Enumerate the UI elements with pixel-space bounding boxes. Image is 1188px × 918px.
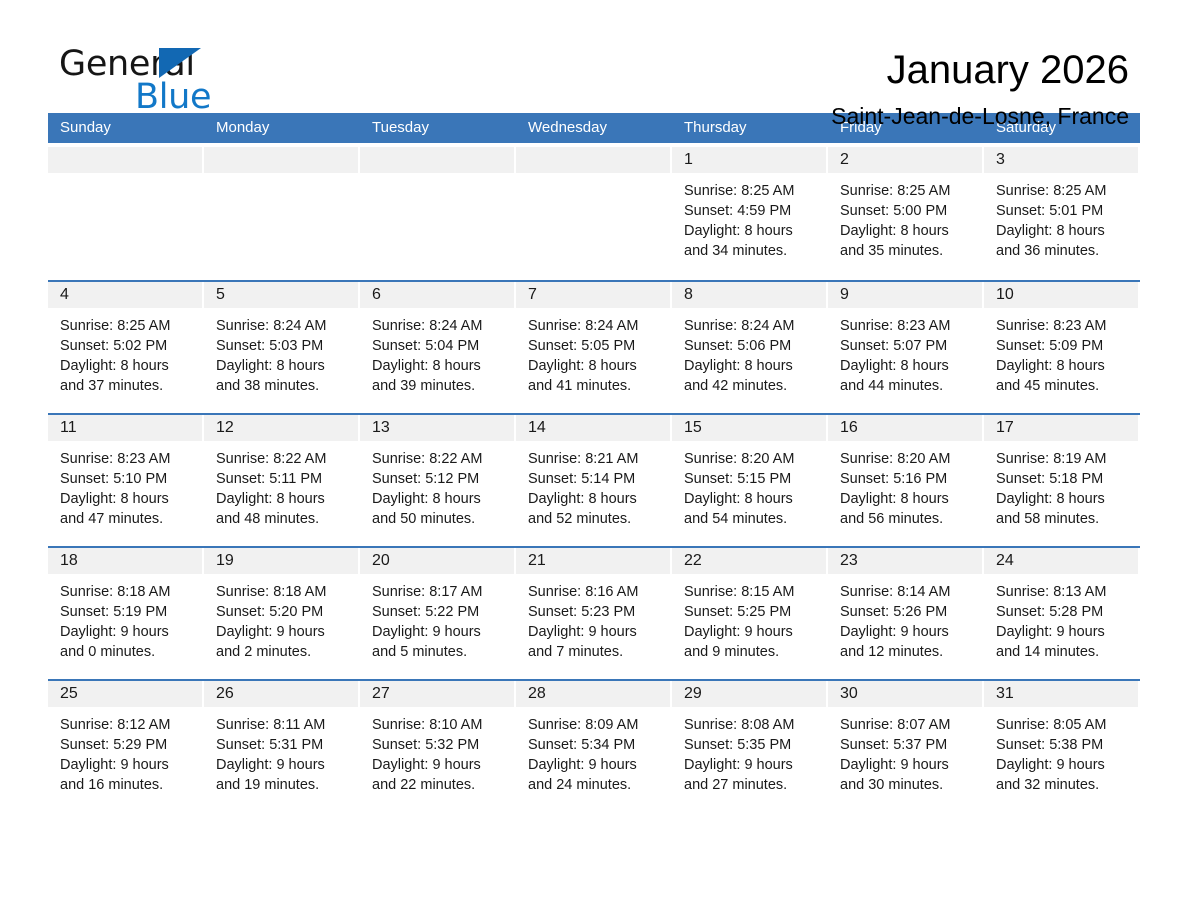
sunset-text: Sunset: 5:15 PM: [684, 469, 820, 489]
sunrise-text: Sunrise: 8:07 AM: [840, 715, 976, 735]
day-number-band: 12: [204, 415, 358, 441]
sunset-text: Sunset: 5:29 PM: [60, 735, 196, 755]
sunrise-text: Sunrise: 8:23 AM: [840, 316, 976, 336]
day-number-band: [48, 147, 202, 173]
day-cell-empty: [360, 147, 516, 280]
day-cell[interactable]: 18Sunrise: 8:18 AMSunset: 5:19 PMDayligh…: [48, 548, 204, 679]
sunset-text: Sunset: 5:00 PM: [840, 201, 976, 221]
daylight-text-line1: Daylight: 9 hours: [996, 622, 1132, 642]
daylight-text-line2: and 0 minutes.: [60, 642, 196, 662]
daylight-text-line1: Daylight: 8 hours: [216, 489, 352, 509]
daylight-text-line1: Daylight: 8 hours: [840, 356, 976, 376]
day-cell[interactable]: 10Sunrise: 8:23 AMSunset: 5:09 PMDayligh…: [984, 282, 1140, 413]
sunrise-text: Sunrise: 8:19 AM: [996, 449, 1132, 469]
day-details: Sunrise: 8:23 AMSunset: 5:09 PMDaylight:…: [984, 308, 1138, 396]
daylight-text-line2: and 36 minutes.: [996, 241, 1132, 261]
daylight-text-line2: and 41 minutes.: [528, 376, 664, 396]
day-number: 12: [216, 419, 234, 436]
sunset-text: Sunset: 5:38 PM: [996, 735, 1132, 755]
calendar-grid: Sunday Monday Tuesday Wednesday Thursday…: [48, 113, 1140, 812]
day-number-band: 5: [204, 282, 358, 308]
day-details: Sunrise: 8:25 AMSunset: 5:01 PMDaylight:…: [984, 173, 1138, 261]
day-number: 13: [372, 419, 390, 436]
daylight-text-line1: Daylight: 9 hours: [840, 755, 976, 775]
daylight-text-line2: and 50 minutes.: [372, 509, 508, 529]
day-cell[interactable]: 25Sunrise: 8:12 AMSunset: 5:29 PMDayligh…: [48, 681, 204, 812]
day-cell[interactable]: 26Sunrise: 8:11 AMSunset: 5:31 PMDayligh…: [204, 681, 360, 812]
day-number: 29: [684, 685, 702, 702]
daylight-text-line1: Daylight: 9 hours: [372, 755, 508, 775]
day-number: 20: [372, 552, 390, 569]
day-cell-inner: 8Sunrise: 8:24 AMSunset: 5:06 PMDaylight…: [672, 282, 826, 413]
day-details: Sunrise: 8:18 AMSunset: 5:19 PMDaylight:…: [48, 574, 202, 662]
day-number: 6: [372, 286, 381, 303]
daylight-text-line2: and 45 minutes.: [996, 376, 1132, 396]
day-cell[interactable]: 14Sunrise: 8:21 AMSunset: 5:14 PMDayligh…: [516, 415, 672, 546]
sunrise-text: Sunrise: 8:23 AM: [60, 449, 196, 469]
daylight-text-line2: and 58 minutes.: [996, 509, 1132, 529]
daylight-text-line2: and 14 minutes.: [996, 642, 1132, 662]
day-details: Sunrise: 8:16 AMSunset: 5:23 PMDaylight:…: [516, 574, 670, 662]
sunrise-text: Sunrise: 8:24 AM: [684, 316, 820, 336]
sunrise-text: Sunrise: 8:17 AM: [372, 582, 508, 602]
day-cell-inner: 3Sunrise: 8:25 AMSunset: 5:01 PMDaylight…: [984, 147, 1138, 280]
day-number: 4: [60, 286, 69, 303]
sunrise-text: Sunrise: 8:24 AM: [372, 316, 508, 336]
sunrise-text: Sunrise: 8:20 AM: [684, 449, 820, 469]
day-details: Sunrise: 8:15 AMSunset: 5:25 PMDaylight:…: [672, 574, 826, 662]
day-cell[interactable]: 19Sunrise: 8:18 AMSunset: 5:20 PMDayligh…: [204, 548, 360, 679]
day-details: Sunrise: 8:24 AMSunset: 5:06 PMDaylight:…: [672, 308, 826, 396]
day-number: 9: [840, 286, 849, 303]
day-details: Sunrise: 8:24 AMSunset: 5:05 PMDaylight:…: [516, 308, 670, 396]
daylight-text-line2: and 54 minutes.: [684, 509, 820, 529]
sunset-text: Sunset: 5:06 PM: [684, 336, 820, 356]
daylight-text-line1: Daylight: 8 hours: [996, 356, 1132, 376]
day-cell-inner: 15Sunrise: 8:20 AMSunset: 5:15 PMDayligh…: [672, 415, 826, 546]
day-number-band: 2: [828, 147, 982, 173]
day-cell-inner: 29Sunrise: 8:08 AMSunset: 5:35 PMDayligh…: [672, 681, 826, 812]
sunrise-text: Sunrise: 8:10 AM: [372, 715, 508, 735]
day-number-band: 10: [984, 282, 1138, 308]
day-cell-inner: [516, 147, 670, 280]
day-number-band: 30: [828, 681, 982, 707]
day-number: 21: [528, 552, 546, 569]
sunset-text: Sunset: 5:03 PM: [216, 336, 352, 356]
sunrise-text: Sunrise: 8:21 AM: [528, 449, 664, 469]
sunset-text: Sunset: 5:14 PM: [528, 469, 664, 489]
daylight-text-line1: Daylight: 8 hours: [372, 356, 508, 376]
location-subtitle: Saint-Jean-de-Losne, France: [831, 102, 1129, 130]
daylight-text-line2: and 24 minutes.: [528, 775, 664, 795]
sunset-text: Sunset: 5:32 PM: [372, 735, 508, 755]
day-number: 3: [996, 151, 1005, 168]
day-cell-inner: 28Sunrise: 8:09 AMSunset: 5:34 PMDayligh…: [516, 681, 670, 812]
sunrise-text: Sunrise: 8:08 AM: [684, 715, 820, 735]
day-cell[interactable]: 21Sunrise: 8:16 AMSunset: 5:23 PMDayligh…: [516, 548, 672, 679]
day-cell[interactable]: 16Sunrise: 8:20 AMSunset: 5:16 PMDayligh…: [828, 415, 984, 546]
daylight-text-line1: Daylight: 8 hours: [996, 221, 1132, 241]
weekday-header-thursday: Thursday: [672, 113, 828, 143]
daylight-text-line1: Daylight: 8 hours: [372, 489, 508, 509]
daylight-text-line1: Daylight: 9 hours: [216, 755, 352, 775]
day-cell-inner: 2Sunrise: 8:25 AMSunset: 5:00 PMDaylight…: [828, 147, 982, 280]
day-details: Sunrise: 8:08 AMSunset: 5:35 PMDaylight:…: [672, 707, 826, 795]
day-cell[interactable]: 24Sunrise: 8:13 AMSunset: 5:28 PMDayligh…: [984, 548, 1140, 679]
day-cell-inner: 31Sunrise: 8:05 AMSunset: 5:38 PMDayligh…: [984, 681, 1138, 812]
day-cell-inner: 6Sunrise: 8:24 AMSunset: 5:04 PMDaylight…: [360, 282, 514, 413]
day-cell[interactable]: 11Sunrise: 8:23 AMSunset: 5:10 PMDayligh…: [48, 415, 204, 546]
day-cell-inner: 10Sunrise: 8:23 AMSunset: 5:09 PMDayligh…: [984, 282, 1138, 413]
daylight-text-line1: Daylight: 9 hours: [372, 622, 508, 642]
logo-text-blue: Blue: [135, 77, 211, 117]
day-cell-empty: [204, 147, 360, 280]
page-title: January 2026: [831, 46, 1129, 94]
day-cell-inner: 27Sunrise: 8:10 AMSunset: 5:32 PMDayligh…: [360, 681, 514, 812]
day-number: 8: [684, 286, 693, 303]
day-number-band: 9: [828, 282, 982, 308]
day-details: Sunrise: 8:05 AMSunset: 5:38 PMDaylight:…: [984, 707, 1138, 795]
sunset-text: Sunset: 5:31 PM: [216, 735, 352, 755]
daylight-text-line2: and 19 minutes.: [216, 775, 352, 795]
day-details: Sunrise: 8:25 AMSunset: 4:59 PMDaylight:…: [672, 173, 826, 261]
daylight-text-line2: and 7 minutes.: [528, 642, 664, 662]
day-number-band: 4: [48, 282, 202, 308]
day-cell-inner: 14Sunrise: 8:21 AMSunset: 5:14 PMDayligh…: [516, 415, 670, 546]
sunrise-text: Sunrise: 8:12 AM: [60, 715, 196, 735]
week-row: 1Sunrise: 8:25 AMSunset: 4:59 PMDaylight…: [48, 147, 1140, 280]
sunset-text: Sunset: 4:59 PM: [684, 201, 820, 221]
page-header: General Blue January 2026 Saint-Jean-de-…: [48, 0, 1140, 113]
day-details: Sunrise: 8:12 AMSunset: 5:29 PMDaylight:…: [48, 707, 202, 795]
day-cell[interactable]: 2Sunrise: 8:25 AMSunset: 5:00 PMDaylight…: [828, 147, 984, 280]
daylight-text-line2: and 12 minutes.: [840, 642, 976, 662]
day-cell-inner: 22Sunrise: 8:15 AMSunset: 5:25 PMDayligh…: [672, 548, 826, 679]
day-cell-inner: [48, 147, 202, 280]
sunrise-text: Sunrise: 8:22 AM: [216, 449, 352, 469]
day-number-band: 19: [204, 548, 358, 574]
day-number-band: 13: [360, 415, 514, 441]
daylight-text-line2: and 32 minutes.: [996, 775, 1132, 795]
day-details: Sunrise: 8:21 AMSunset: 5:14 PMDaylight:…: [516, 441, 670, 529]
day-number: 26: [216, 685, 234, 702]
day-cell-inner: 25Sunrise: 8:12 AMSunset: 5:29 PMDayligh…: [48, 681, 202, 812]
day-number: 16: [840, 419, 858, 436]
day-number-band: [516, 147, 670, 173]
daylight-text-line2: and 2 minutes.: [216, 642, 352, 662]
sunrise-text: Sunrise: 8:25 AM: [60, 316, 196, 336]
daylight-text-line2: and 52 minutes.: [528, 509, 664, 529]
daylight-text-line1: Daylight: 8 hours: [216, 356, 352, 376]
sunrise-text: Sunrise: 8:25 AM: [996, 181, 1132, 201]
sunset-text: Sunset: 5:04 PM: [372, 336, 508, 356]
calendar-page: General Blue January 2026 Saint-Jean-de-…: [0, 0, 1188, 918]
sunset-text: Sunset: 5:10 PM: [60, 469, 196, 489]
daylight-text-line1: Daylight: 8 hours: [996, 489, 1132, 509]
day-number: 24: [996, 552, 1014, 569]
day-number-band: 22: [672, 548, 826, 574]
day-number-band: [204, 147, 358, 173]
day-number-band: 25: [48, 681, 202, 707]
sunset-text: Sunset: 5:07 PM: [840, 336, 976, 356]
title-block: January 2026 Saint-Jean-de-Losne, France: [831, 46, 1129, 130]
daylight-text-line2: and 30 minutes.: [840, 775, 976, 795]
day-details: Sunrise: 8:20 AMSunset: 5:16 PMDaylight:…: [828, 441, 982, 529]
week-row: 25Sunrise: 8:12 AMSunset: 5:29 PMDayligh…: [48, 679, 1140, 812]
weekday-header-tuesday: Tuesday: [360, 113, 516, 143]
sunset-text: Sunset: 5:12 PM: [372, 469, 508, 489]
daylight-text-line1: Daylight: 9 hours: [528, 622, 664, 642]
sunset-text: Sunset: 5:02 PM: [60, 336, 196, 356]
day-cell-inner: 16Sunrise: 8:20 AMSunset: 5:16 PMDayligh…: [828, 415, 982, 546]
day-number-band: [360, 147, 514, 173]
daylight-text-line2: and 44 minutes.: [840, 376, 976, 396]
sunset-text: Sunset: 5:25 PM: [684, 602, 820, 622]
sunrise-text: Sunrise: 8:05 AM: [996, 715, 1132, 735]
day-cell-empty: [516, 147, 672, 280]
day-number-band: 3: [984, 147, 1138, 173]
day-details: Sunrise: 8:07 AMSunset: 5:37 PMDaylight:…: [828, 707, 982, 795]
day-number: 27: [372, 685, 390, 702]
triangle-icon: [159, 48, 201, 78]
day-details: Sunrise: 8:19 AMSunset: 5:18 PMDaylight:…: [984, 441, 1138, 529]
day-cell-inner: [204, 147, 358, 280]
daylight-text-line2: and 27 minutes.: [684, 775, 820, 795]
daylight-text-line2: and 47 minutes.: [60, 509, 196, 529]
daylight-text-line1: Daylight: 8 hours: [528, 489, 664, 509]
day-cell[interactable]: 6Sunrise: 8:24 AMSunset: 5:04 PMDaylight…: [360, 282, 516, 413]
day-cell-empty: [48, 147, 204, 280]
sunset-text: Sunset: 5:28 PM: [996, 602, 1132, 622]
daylight-text-line2: and 39 minutes.: [372, 376, 508, 396]
day-details: Sunrise: 8:22 AMSunset: 5:11 PMDaylight:…: [204, 441, 358, 529]
day-number: 15: [684, 419, 702, 436]
sunset-text: Sunset: 5:05 PM: [528, 336, 664, 356]
week-row: 11Sunrise: 8:23 AMSunset: 5:10 PMDayligh…: [48, 413, 1140, 546]
day-cell-inner: 1Sunrise: 8:25 AMSunset: 4:59 PMDaylight…: [672, 147, 826, 280]
daylight-text-line1: Daylight: 8 hours: [840, 221, 976, 241]
daylight-text-line2: and 22 minutes.: [372, 775, 508, 795]
day-cell[interactable]: 5Sunrise: 8:24 AMSunset: 5:03 PMDaylight…: [204, 282, 360, 413]
day-cell-inner: 17Sunrise: 8:19 AMSunset: 5:18 PMDayligh…: [984, 415, 1138, 546]
sunset-text: Sunset: 5:11 PM: [216, 469, 352, 489]
daylight-text-line2: and 48 minutes.: [216, 509, 352, 529]
day-number: 23: [840, 552, 858, 569]
day-number: 10: [996, 286, 1014, 303]
day-number-band: 16: [828, 415, 982, 441]
day-cell-inner: 24Sunrise: 8:13 AMSunset: 5:28 PMDayligh…: [984, 548, 1138, 679]
day-number-band: 20: [360, 548, 514, 574]
sunrise-text: Sunrise: 8:16 AM: [528, 582, 664, 602]
day-number-band: 29: [672, 681, 826, 707]
day-number: 2: [840, 151, 849, 168]
day-cell[interactable]: 3Sunrise: 8:25 AMSunset: 5:01 PMDaylight…: [984, 147, 1140, 280]
day-cell-inner: 9Sunrise: 8:23 AMSunset: 5:07 PMDaylight…: [828, 282, 982, 413]
day-number-band: 14: [516, 415, 670, 441]
day-number-band: 28: [516, 681, 670, 707]
day-number-band: 7: [516, 282, 670, 308]
day-number: 31: [996, 685, 1014, 702]
day-number-band: 18: [48, 548, 202, 574]
day-cell[interactable]: 9Sunrise: 8:23 AMSunset: 5:07 PMDaylight…: [828, 282, 984, 413]
sunset-text: Sunset: 5:16 PM: [840, 469, 976, 489]
day-details: Sunrise: 8:25 AMSunset: 5:02 PMDaylight:…: [48, 308, 202, 396]
day-cell-inner: 19Sunrise: 8:18 AMSunset: 5:20 PMDayligh…: [204, 548, 358, 679]
day-details: Sunrise: 8:18 AMSunset: 5:20 PMDaylight:…: [204, 574, 358, 662]
day-number: 22: [684, 552, 702, 569]
day-cell[interactable]: 23Sunrise: 8:14 AMSunset: 5:26 PMDayligh…: [828, 548, 984, 679]
day-details: Sunrise: 8:17 AMSunset: 5:22 PMDaylight:…: [360, 574, 514, 662]
daylight-text-line1: Daylight: 9 hours: [996, 755, 1132, 775]
sunset-text: Sunset: 5:34 PM: [528, 735, 664, 755]
day-details: Sunrise: 8:10 AMSunset: 5:32 PMDaylight:…: [360, 707, 514, 795]
day-cell[interactable]: 28Sunrise: 8:09 AMSunset: 5:34 PMDayligh…: [516, 681, 672, 812]
sunrise-text: Sunrise: 8:20 AM: [840, 449, 976, 469]
day-cell[interactable]: 15Sunrise: 8:20 AMSunset: 5:15 PMDayligh…: [672, 415, 828, 546]
sunrise-text: Sunrise: 8:23 AM: [996, 316, 1132, 336]
day-cell[interactable]: 12Sunrise: 8:22 AMSunset: 5:11 PMDayligh…: [204, 415, 360, 546]
daylight-text-line2: and 38 minutes.: [216, 376, 352, 396]
daylight-text-line1: Daylight: 8 hours: [840, 489, 976, 509]
day-number: 14: [528, 419, 546, 436]
day-number-band: 11: [48, 415, 202, 441]
day-cell[interactable]: 17Sunrise: 8:19 AMSunset: 5:18 PMDayligh…: [984, 415, 1140, 546]
day-details: Sunrise: 8:09 AMSunset: 5:34 PMDaylight:…: [516, 707, 670, 795]
day-cell-inner: 11Sunrise: 8:23 AMSunset: 5:10 PMDayligh…: [48, 415, 202, 546]
daylight-text-line1: Daylight: 9 hours: [60, 622, 196, 642]
sunrise-text: Sunrise: 8:11 AM: [216, 715, 352, 735]
day-number-band: 26: [204, 681, 358, 707]
week-row: 18Sunrise: 8:18 AMSunset: 5:19 PMDayligh…: [48, 546, 1140, 679]
sunset-text: Sunset: 5:20 PM: [216, 602, 352, 622]
daylight-text-line1: Daylight: 8 hours: [60, 489, 196, 509]
day-cell-inner: 13Sunrise: 8:22 AMSunset: 5:12 PMDayligh…: [360, 415, 514, 546]
daylight-text-line2: and 16 minutes.: [60, 775, 196, 795]
day-number-band: 27: [360, 681, 514, 707]
daylight-text-line2: and 56 minutes.: [840, 509, 976, 529]
sunset-text: Sunset: 5:35 PM: [684, 735, 820, 755]
daylight-text-line1: Daylight: 9 hours: [684, 622, 820, 642]
day-cell[interactable]: 8Sunrise: 8:24 AMSunset: 5:06 PMDaylight…: [672, 282, 828, 413]
day-number-band: 1: [672, 147, 826, 173]
sunrise-text: Sunrise: 8:13 AM: [996, 582, 1132, 602]
sunset-text: Sunset: 5:26 PM: [840, 602, 976, 622]
day-cell[interactable]: 7Sunrise: 8:24 AMSunset: 5:05 PMDaylight…: [516, 282, 672, 413]
day-number: 1: [684, 151, 693, 168]
week-row: 4Sunrise: 8:25 AMSunset: 5:02 PMDaylight…: [48, 280, 1140, 413]
day-cell-inner: 7Sunrise: 8:24 AMSunset: 5:05 PMDaylight…: [516, 282, 670, 413]
day-details: Sunrise: 8:23 AMSunset: 5:10 PMDaylight:…: [48, 441, 202, 529]
day-number-band: 31: [984, 681, 1138, 707]
daylight-text-line1: Daylight: 8 hours: [684, 489, 820, 509]
weekday-header-wednesday: Wednesday: [516, 113, 672, 143]
day-number: 28: [528, 685, 546, 702]
daylight-text-line1: Daylight: 8 hours: [60, 356, 196, 376]
day-number-band: 24: [984, 548, 1138, 574]
daylight-text-line1: Daylight: 9 hours: [216, 622, 352, 642]
day-cell-inner: 30Sunrise: 8:07 AMSunset: 5:37 PMDayligh…: [828, 681, 982, 812]
daylight-text-line1: Daylight: 9 hours: [528, 755, 664, 775]
day-details: Sunrise: 8:22 AMSunset: 5:12 PMDaylight:…: [360, 441, 514, 529]
day-cell-inner: 5Sunrise: 8:24 AMSunset: 5:03 PMDaylight…: [204, 282, 358, 413]
day-cell-inner: 26Sunrise: 8:11 AMSunset: 5:31 PMDayligh…: [204, 681, 358, 812]
daylight-text-line1: Daylight: 9 hours: [60, 755, 196, 775]
day-number: 18: [60, 552, 78, 569]
sunrise-text: Sunrise: 8:09 AM: [528, 715, 664, 735]
day-number: 5: [216, 286, 225, 303]
daylight-text-line1: Daylight: 8 hours: [684, 221, 820, 241]
sunrise-text: Sunrise: 8:15 AM: [684, 582, 820, 602]
day-cell[interactable]: 30Sunrise: 8:07 AMSunset: 5:37 PMDayligh…: [828, 681, 984, 812]
day-cell[interactable]: 1Sunrise: 8:25 AMSunset: 4:59 PMDaylight…: [672, 147, 828, 280]
day-number-band: 17: [984, 415, 1138, 441]
daylight-text-line2: and 9 minutes.: [684, 642, 820, 662]
generalblue-logo[interactable]: General Blue: [59, 44, 259, 118]
day-cell-inner: 20Sunrise: 8:17 AMSunset: 5:22 PMDayligh…: [360, 548, 514, 679]
day-number: 25: [60, 685, 78, 702]
sunrise-text: Sunrise: 8:24 AM: [216, 316, 352, 336]
sunrise-text: Sunrise: 8:14 AM: [840, 582, 976, 602]
daylight-text-line1: Daylight: 9 hours: [684, 755, 820, 775]
day-details: Sunrise: 8:25 AMSunset: 5:00 PMDaylight:…: [828, 173, 982, 261]
day-number-band: 6: [360, 282, 514, 308]
day-number-band: 23: [828, 548, 982, 574]
day-cell-inner: 21Sunrise: 8:16 AMSunset: 5:23 PMDayligh…: [516, 548, 670, 679]
sunset-text: Sunset: 5:18 PM: [996, 469, 1132, 489]
sunrise-text: Sunrise: 8:18 AM: [216, 582, 352, 602]
day-cell[interactable]: 29Sunrise: 8:08 AMSunset: 5:35 PMDayligh…: [672, 681, 828, 812]
daylight-text-line1: Daylight: 8 hours: [528, 356, 664, 376]
day-details: Sunrise: 8:23 AMSunset: 5:07 PMDaylight:…: [828, 308, 982, 396]
day-cell[interactable]: 20Sunrise: 8:17 AMSunset: 5:22 PMDayligh…: [360, 548, 516, 679]
day-cell-inner: [360, 147, 514, 280]
sunrise-text: Sunrise: 8:25 AM: [840, 181, 976, 201]
day-details: Sunrise: 8:24 AMSunset: 5:03 PMDaylight:…: [204, 308, 358, 396]
day-details: Sunrise: 8:24 AMSunset: 5:04 PMDaylight:…: [360, 308, 514, 396]
daylight-text-line2: and 37 minutes.: [60, 376, 196, 396]
sunset-text: Sunset: 5:09 PM: [996, 336, 1132, 356]
day-cell-inner: 4Sunrise: 8:25 AMSunset: 5:02 PMDaylight…: [48, 282, 202, 413]
day-number: 7: [528, 286, 537, 303]
day-cell-inner: 23Sunrise: 8:14 AMSunset: 5:26 PMDayligh…: [828, 548, 982, 679]
day-number: 30: [840, 685, 858, 702]
daylight-text-line2: and 42 minutes.: [684, 376, 820, 396]
daylight-text-line1: Daylight: 8 hours: [684, 356, 820, 376]
sunset-text: Sunset: 5:37 PM: [840, 735, 976, 755]
day-number-band: 15: [672, 415, 826, 441]
day-cell[interactable]: 22Sunrise: 8:15 AMSunset: 5:25 PMDayligh…: [672, 548, 828, 679]
day-cell-inner: 18Sunrise: 8:18 AMSunset: 5:19 PMDayligh…: [48, 548, 202, 679]
day-details: Sunrise: 8:14 AMSunset: 5:26 PMDaylight:…: [828, 574, 982, 662]
sunrise-text: Sunrise: 8:22 AM: [372, 449, 508, 469]
sunrise-text: Sunrise: 8:25 AM: [684, 181, 820, 201]
day-cell[interactable]: 4Sunrise: 8:25 AMSunset: 5:02 PMDaylight…: [48, 282, 204, 413]
day-details: Sunrise: 8:20 AMSunset: 5:15 PMDaylight:…: [672, 441, 826, 529]
day-details: Sunrise: 8:13 AMSunset: 5:28 PMDaylight:…: [984, 574, 1138, 662]
sunrise-text: Sunrise: 8:18 AM: [60, 582, 196, 602]
daylight-text-line2: and 34 minutes.: [684, 241, 820, 261]
day-cell-inner: 12Sunrise: 8:22 AMSunset: 5:11 PMDayligh…: [204, 415, 358, 546]
daylight-text-line1: Daylight: 9 hours: [840, 622, 976, 642]
day-details: Sunrise: 8:11 AMSunset: 5:31 PMDaylight:…: [204, 707, 358, 795]
day-number: 17: [996, 419, 1014, 436]
day-cell[interactable]: 31Sunrise: 8:05 AMSunset: 5:38 PMDayligh…: [984, 681, 1140, 812]
daylight-text-line2: and 5 minutes.: [372, 642, 508, 662]
day-cell[interactable]: 13Sunrise: 8:22 AMSunset: 5:12 PMDayligh…: [360, 415, 516, 546]
day-cell[interactable]: 27Sunrise: 8:10 AMSunset: 5:32 PMDayligh…: [360, 681, 516, 812]
day-number: 19: [216, 552, 234, 569]
day-number-band: 21: [516, 548, 670, 574]
